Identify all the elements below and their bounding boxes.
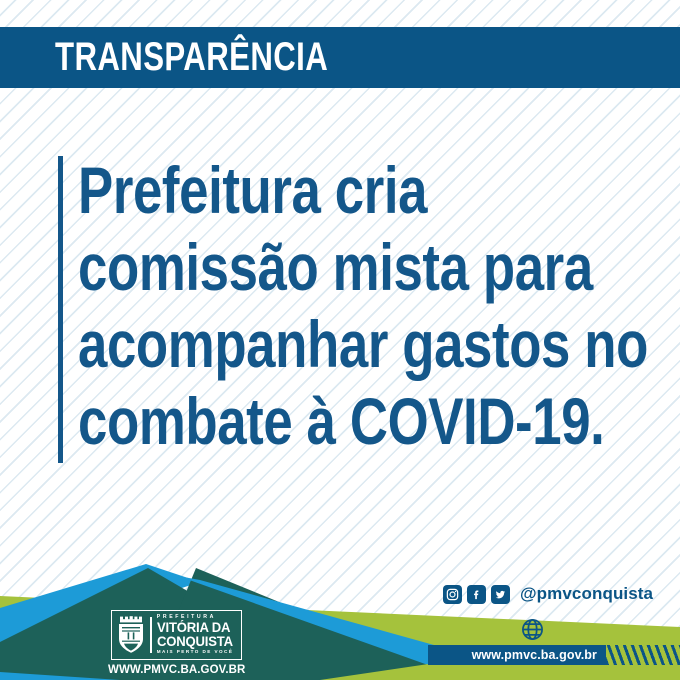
- headline-block: Prefeitura cria comissão mista para acom…: [78, 152, 638, 460]
- city-logo-block: PREFEITURA VITÓRIA DA CONQUISTA MAIS PER…: [108, 610, 245, 676]
- logo-wordmark: PREFEITURA VITÓRIA DA CONQUISTA MAIS PER…: [157, 614, 235, 656]
- poster-canvas: TRANSPARÊNCIA Prefeitura cria comissão m…: [0, 0, 680, 680]
- site-url-label: www.pmvc.ba.gov.br: [472, 648, 597, 662]
- logo-tagline: MAIS PERTO DE VOCÊ: [157, 648, 235, 656]
- logo-divider: [150, 617, 151, 653]
- social-media-row: @pmvconquista: [443, 582, 653, 606]
- twitter-icon[interactable]: [491, 585, 510, 604]
- facebook-icon[interactable]: [467, 585, 486, 604]
- page-title: TRANSPARÊNCIA: [55, 29, 328, 86]
- headline-line-1: Prefeitura cria: [78, 152, 526, 229]
- globe-icon: [521, 618, 544, 646]
- instagram-icon[interactable]: [443, 585, 462, 604]
- site-url-bar: www.pmvc.ba.gov.br: [428, 645, 606, 665]
- headline-line-4: combate à COVID-19.: [78, 383, 526, 460]
- logo-lockup: PREFEITURA VITÓRIA DA CONQUISTA MAIS PER…: [111, 610, 242, 660]
- bar-hatch-decoration: [606, 645, 680, 665]
- logo-website-url: WWW.PMVC.BA.GOV.BR: [108, 664, 245, 676]
- coat-of-arms-icon: [116, 616, 146, 654]
- headline-accent-bar: [58, 156, 63, 463]
- headline-line-3: acompanhar gastos no: [78, 306, 526, 383]
- logo-name-line-2: CONQUISTA: [157, 635, 233, 649]
- headline-line-2: comissão mista para: [78, 229, 526, 306]
- logo-name-line-1: VITÓRIA DA: [157, 621, 233, 635]
- social-handle-label: @pmvconquista: [520, 584, 653, 604]
